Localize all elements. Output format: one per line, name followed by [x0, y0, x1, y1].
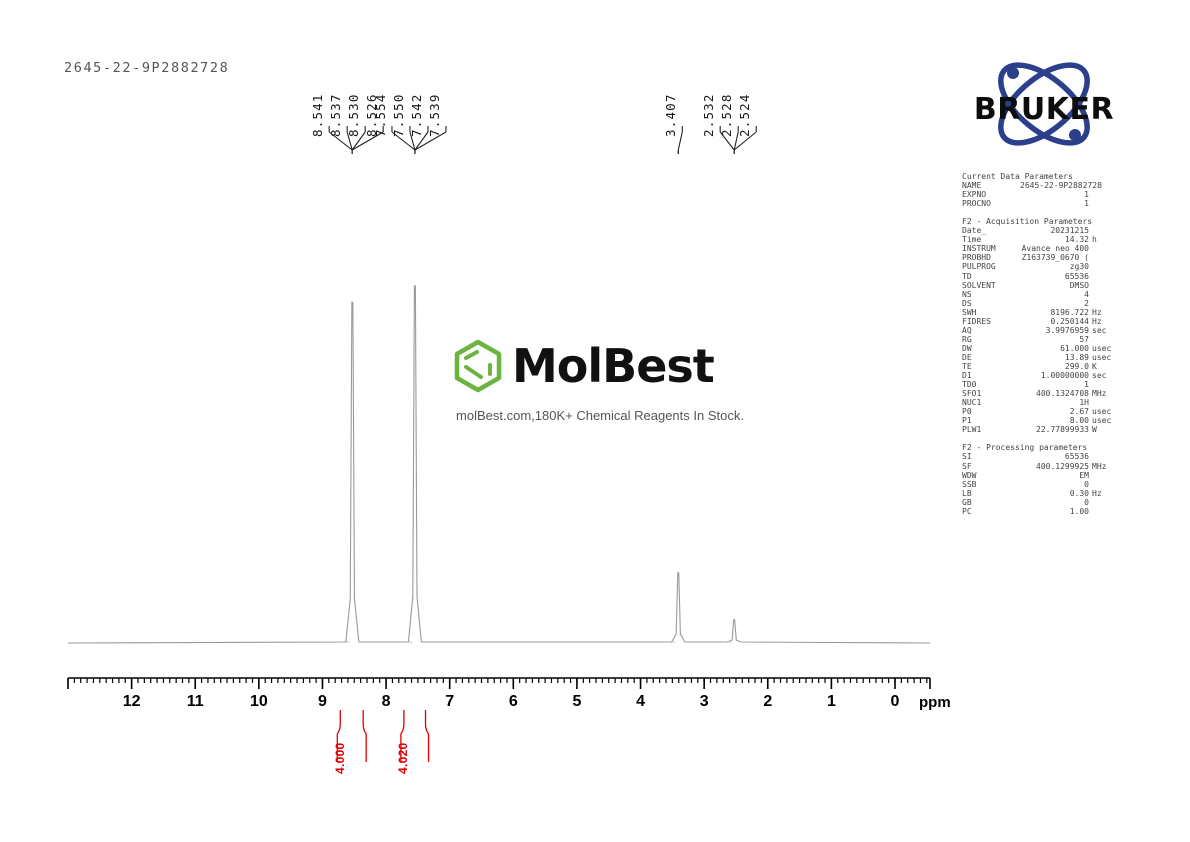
- axis-tick-label: 4: [619, 693, 663, 711]
- axis-tick-label: 6: [491, 693, 535, 711]
- axis-tick-label: 0: [873, 693, 917, 711]
- axis-tick-label: 11: [173, 693, 217, 711]
- axis-label-layer: 1211109876543210ppm: [0, 0, 1190, 842]
- axis-tick-label: 1: [809, 693, 853, 711]
- axis-tick-label: 8: [364, 693, 408, 711]
- axis-tick-label: 2: [746, 693, 790, 711]
- axis-unit-label: ppm: [919, 694, 951, 711]
- axis-tick-label: 12: [110, 693, 154, 711]
- axis-tick-label: 5: [555, 693, 599, 711]
- axis-tick-label: 9: [300, 693, 344, 711]
- axis-tick-label: 7: [428, 693, 472, 711]
- axis-tick-label: 3: [682, 693, 726, 711]
- axis-tick-label: 10: [237, 693, 281, 711]
